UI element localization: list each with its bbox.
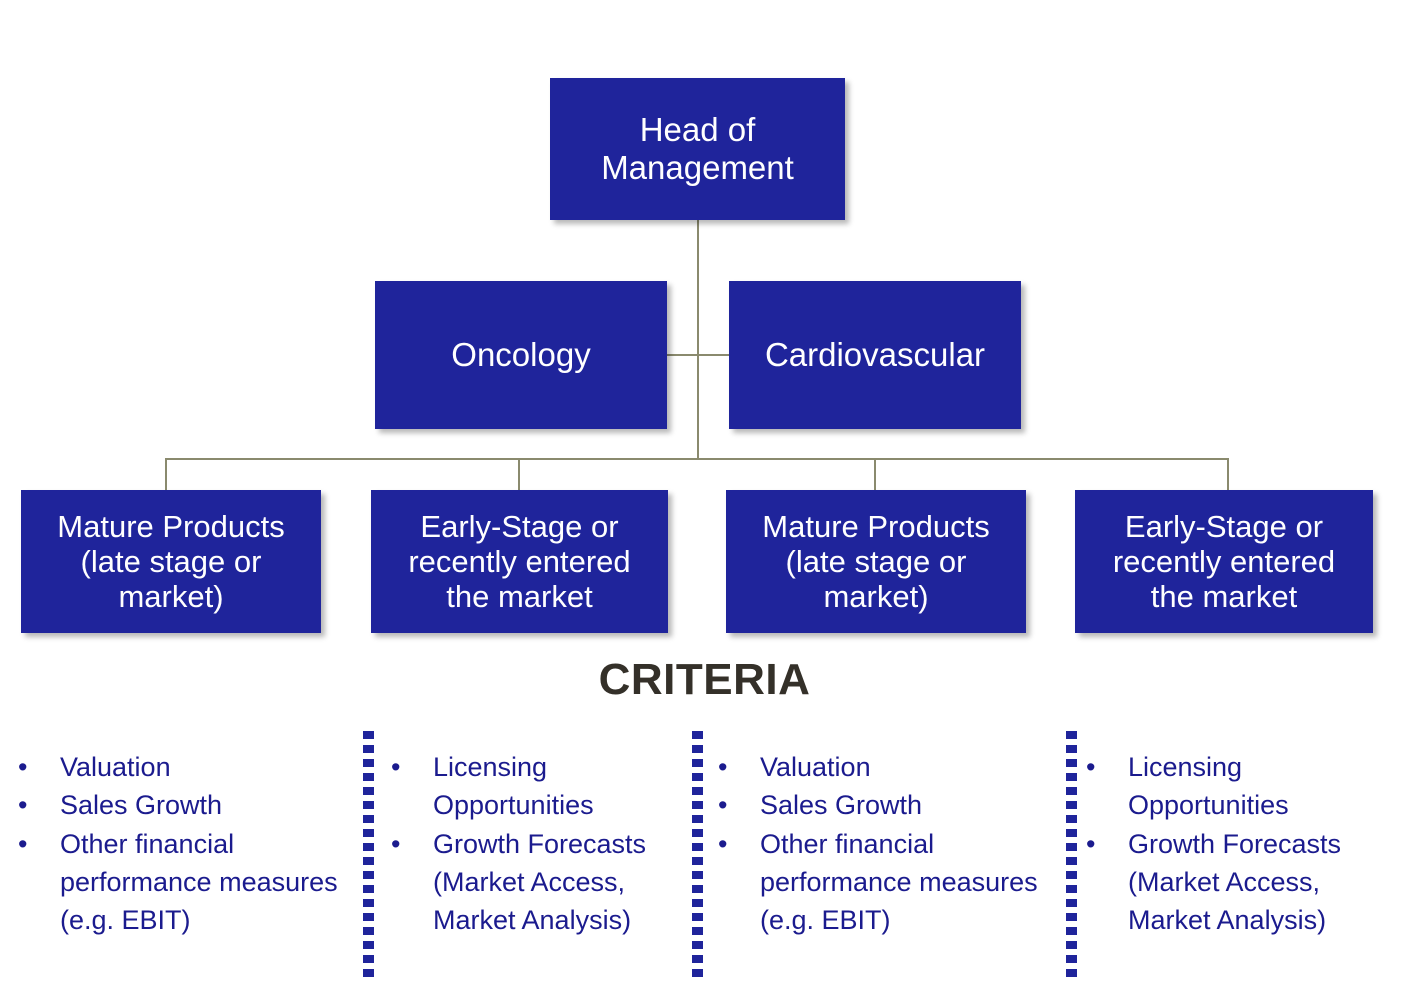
- org-node-head-of-management[interactable]: Head of Management: [550, 78, 845, 220]
- connector-leaf-bus: [165, 458, 1229, 460]
- bullet-icon: •: [391, 825, 400, 863]
- connector-drop-leaf-3: [1227, 458, 1229, 491]
- list-item-label: Valuation: [760, 748, 1062, 786]
- org-node-oncology[interactable]: Oncology: [375, 281, 667, 429]
- connector-root-trunk: [697, 220, 699, 459]
- bullet-icon: •: [18, 748, 27, 786]
- list-item-label: Sales Growth: [60, 786, 362, 824]
- bullet-icon: •: [18, 825, 27, 863]
- list-item-label: Other financial performance measures (e.…: [60, 825, 362, 940]
- list-item: • Licensing Opportunities: [1080, 748, 1400, 825]
- connector-oncology-to-trunk: [667, 354, 698, 356]
- bullet-icon: •: [18, 786, 27, 824]
- list-item-label: Sales Growth: [760, 786, 1062, 824]
- list-item-label: Licensing Opportunities: [1128, 748, 1400, 825]
- list-item-label: Other financial performance measures (e.…: [760, 825, 1062, 940]
- connector-drop-leaf-0: [165, 458, 167, 491]
- list-item: • Sales Growth: [12, 786, 362, 824]
- connector-drop-leaf-1: [518, 458, 520, 491]
- connector-cardio-to-trunk: [697, 354, 730, 356]
- list-item: • Valuation: [12, 748, 362, 786]
- org-node-cardiovascular-mature-products[interactable]: Mature Products (late stage or market): [726, 490, 1026, 633]
- list-item: • Other financial performance measures (…: [12, 825, 362, 940]
- list-item: • Licensing Opportunities: [385, 748, 685, 825]
- list-item-label: Growth Forecasts (Market Access, Market …: [433, 825, 685, 940]
- org-chart-canvas: Head of Management Oncology Cardiovascul…: [0, 0, 1409, 982]
- list-item-label: Valuation: [60, 748, 362, 786]
- bullet-icon: •: [1086, 825, 1095, 863]
- org-node-oncology-early-stage[interactable]: Early-Stage or recently entered the mark…: [371, 490, 668, 633]
- criteria-column: • Valuation • Sales Growth • Other finan…: [12, 748, 362, 940]
- connector-drop-leaf-2: [874, 458, 876, 491]
- bullet-icon: •: [718, 786, 727, 824]
- list-item: • Growth Forecasts (Market Access, Marke…: [385, 825, 685, 940]
- column-divider-dotted: [1066, 731, 1077, 982]
- list-item: • Valuation: [712, 748, 1062, 786]
- list-item: • Other financial performance measures (…: [712, 825, 1062, 940]
- org-node-cardiovascular[interactable]: Cardiovascular: [729, 281, 1021, 429]
- list-item-label: Licensing Opportunities: [433, 748, 685, 825]
- list-item-label: Growth Forecasts (Market Access, Market …: [1128, 825, 1400, 940]
- bullet-icon: •: [391, 748, 400, 786]
- bullet-icon: •: [718, 825, 727, 863]
- list-item: • Growth Forecasts (Market Access, Marke…: [1080, 825, 1400, 940]
- criteria-heading: CRITERIA: [0, 655, 1409, 705]
- column-divider-dotted: [692, 731, 703, 982]
- list-item: • Sales Growth: [712, 786, 1062, 824]
- column-divider-dotted: [363, 731, 374, 982]
- criteria-column: • Valuation • Sales Growth • Other finan…: [712, 748, 1062, 940]
- org-node-cardiovascular-early-stage[interactable]: Early-Stage or recently entered the mark…: [1075, 490, 1373, 633]
- criteria-column: • Licensing Opportunities • Growth Forec…: [1080, 748, 1400, 940]
- criteria-column: • Licensing Opportunities • Growth Forec…: [385, 748, 685, 940]
- bullet-icon: •: [718, 748, 727, 786]
- bullet-icon: •: [1086, 748, 1095, 786]
- org-node-oncology-mature-products[interactable]: Mature Products (late stage or market): [21, 490, 321, 633]
